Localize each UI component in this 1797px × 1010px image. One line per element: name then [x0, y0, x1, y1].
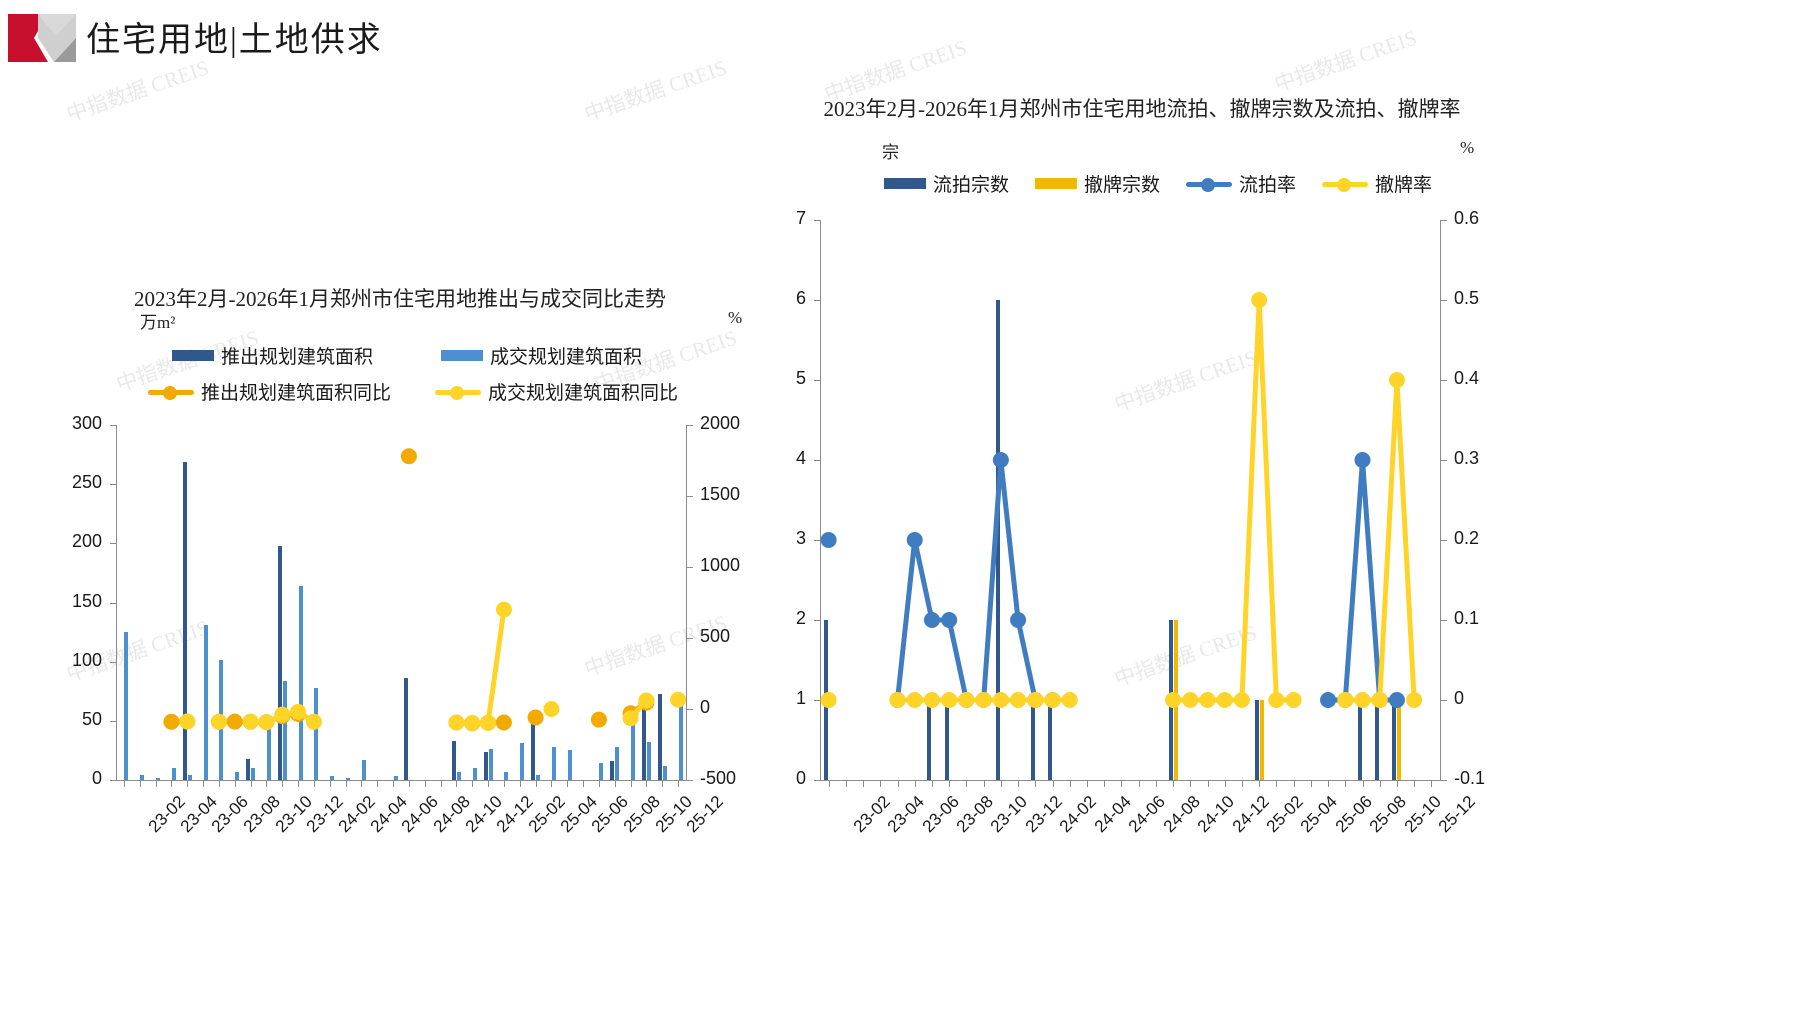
y-tick-label-right: 0.2: [1454, 528, 1479, 549]
marker-撤牌率: [1200, 692, 1216, 708]
x-tick: [898, 781, 899, 787]
marker-撤牌率: [1045, 692, 1061, 708]
legend-item-chengjiao-area[interactable]: 成交规划建筑面积: [441, 342, 642, 369]
marker-撤牌率: [993, 692, 1009, 708]
y-tick-right: [687, 638, 693, 639]
x-tick-label: 24-02: [1056, 792, 1101, 837]
marker-撤牌率: [1062, 692, 1078, 708]
chart-left-ylabel: 万m²: [140, 308, 175, 333]
x-tick: [829, 781, 830, 787]
x-tick: [282, 781, 283, 787]
x-tick: [1363, 781, 1364, 787]
marker-流拍率: [1389, 692, 1405, 708]
marker-成交规划建筑面积同比: [179, 713, 195, 729]
x-tick: [536, 781, 537, 787]
x-tick-label: 24-08: [430, 792, 475, 837]
chart-left-plot-area: 050100150200250300-500050010001500200023…: [116, 425, 686, 780]
marker-撤牌率: [1010, 692, 1026, 708]
y-tick-label-left: 4: [796, 448, 806, 469]
x-tick-label: 23-06: [918, 792, 963, 837]
x-tick: [377, 781, 378, 787]
x-tick: [1328, 781, 1329, 787]
x-tick: [1070, 781, 1071, 787]
legend-label: 流拍宗数: [933, 170, 1009, 197]
x-tick-label: 23-10: [987, 792, 1032, 837]
x-tick-label: 23-12: [1022, 792, 1067, 837]
x-tick: [361, 781, 362, 787]
x-tick: [915, 781, 916, 787]
x-tick: [880, 781, 881, 787]
legend-item-tuichu-area[interactable]: 推出规划建筑面积: [172, 342, 373, 369]
legend-label: 撤牌宗数: [1084, 170, 1160, 197]
x-tick-label: 24-12: [1228, 792, 1273, 837]
chart-left-title: 2023年2月-2026年1月郑州市住宅用地推出与成交同比走势: [80, 286, 720, 312]
y-tick-right: [1441, 460, 1447, 461]
y-tick-right: [687, 709, 693, 710]
x-tick: [1190, 781, 1191, 787]
y-tick-label-left: 3: [796, 528, 806, 549]
y-tick-label-left: 5: [796, 368, 806, 389]
chart-right-legend: 流拍宗数 撤牌宗数 流拍率 撤牌率: [884, 170, 1458, 197]
y-axis-right: [686, 425, 687, 780]
legend-item-liupai-count[interactable]: 流拍宗数: [884, 170, 1009, 197]
line-series-layer: [820, 220, 1440, 780]
marker-撤牌率: [1389, 372, 1405, 388]
y-tick-right: [1441, 700, 1447, 701]
marker-推出规划建筑面积同比: [496, 714, 512, 730]
legend-label: 成交规划建筑面积同比: [488, 378, 678, 405]
marker-撤牌率: [821, 692, 837, 708]
marker-撤牌率: [1372, 692, 1388, 708]
x-tick: [1414, 781, 1415, 787]
y-tick-label-left: 250: [72, 472, 102, 493]
y-tick-label-left: 200: [72, 531, 102, 552]
legend-swatch-bar: [1035, 178, 1077, 189]
x-axis: [116, 780, 687, 781]
marker-成交规划建筑面积同比: [290, 704, 306, 720]
y-tick-right: [687, 780, 693, 781]
x-tick-label: 25-08: [620, 792, 665, 837]
marker-流拍率: [1355, 452, 1371, 468]
y-tick-label-left: 2: [796, 608, 806, 629]
y-tick-label-right: 0: [700, 697, 710, 718]
x-tick-label: 25-02: [525, 792, 570, 837]
legend-item-chepai-rate[interactable]: 撤牌率: [1322, 170, 1432, 197]
x-tick: [235, 781, 236, 787]
x-tick: [472, 781, 473, 787]
x-tick: [425, 781, 426, 787]
marker-撤牌率: [924, 692, 940, 708]
marker-成交规划建筑面积同比: [258, 714, 274, 730]
marker-撤牌率: [976, 692, 992, 708]
y-tick-label-right: 2000: [700, 413, 740, 434]
marker-撤牌率: [1286, 692, 1302, 708]
marker-撤牌率: [1268, 692, 1284, 708]
x-tick: [949, 781, 950, 787]
legend-label: 推出规划建筑面积同比: [201, 378, 391, 405]
line-成交规划建筑面积同比: [456, 610, 504, 723]
x-tick: [1121, 781, 1122, 787]
marker-成交规划建筑面积同比: [211, 714, 227, 730]
x-tick: [1208, 781, 1209, 787]
legend-item-chepai-count[interactable]: 撤牌宗数: [1035, 170, 1160, 197]
marker-成交规划建筑面积同比: [496, 602, 512, 618]
x-tick: [441, 781, 442, 787]
chart-right-ylabel: 宗: [882, 138, 899, 163]
y-tick-label-left: 300: [72, 413, 102, 434]
y-tick-label-right: -0.1: [1454, 768, 1485, 789]
y-tick-right: [1441, 540, 1447, 541]
y-tick-label-right: 0.3: [1454, 448, 1479, 469]
marker-成交规划建筑面积同比: [670, 692, 686, 708]
chart-right-y2label: %: [1460, 138, 1474, 158]
x-tick: [678, 781, 679, 787]
y-tick-label-left: 7: [796, 208, 806, 229]
x-tick-label: 25-04: [1297, 792, 1342, 837]
chart-left-land-supply-transaction: 2023年2月-2026年1月郑州市住宅用地推出与成交同比走势 万m² % 推出…: [0, 0, 800, 1010]
x-tick: [646, 781, 647, 787]
marker-成交规划建筑面积同比: [623, 710, 639, 726]
y-tick-label-left: 0: [92, 768, 102, 789]
marker-流拍率: [941, 612, 957, 628]
x-tick: [140, 781, 141, 787]
x-tick: [1225, 781, 1226, 787]
x-tick: [1431, 781, 1432, 787]
legend-label: 推出规划建筑面积: [221, 342, 373, 369]
marker-推出规划建筑面积同比: [591, 712, 607, 728]
x-tick: [171, 781, 172, 787]
x-tick-label: 25-10: [1400, 792, 1445, 837]
marker-流拍率: [821, 532, 837, 548]
x-tick: [966, 781, 967, 787]
marker-成交规划建筑面积同比: [464, 715, 480, 731]
marker-流拍率: [907, 532, 923, 548]
x-tick-label: 24-04: [1090, 792, 1135, 837]
marker-撤牌率: [1165, 692, 1181, 708]
y-tick-label-right: 0.4: [1454, 368, 1479, 389]
x-tick-label: 23-08: [953, 792, 998, 837]
x-tick: [1242, 781, 1243, 787]
chart-left-legend-row1: 推出规划建筑面积 成交规划建筑面积: [172, 342, 668, 369]
chart-left-y2label: %: [728, 308, 742, 328]
x-tick: [520, 781, 521, 787]
x-tick: [1345, 781, 1346, 787]
x-tick: [409, 781, 410, 787]
line-撤牌率: [1173, 300, 1294, 700]
x-tick: [1001, 781, 1002, 787]
legend-item-tuichu-yoy[interactable]: 推出规划建筑面积同比: [148, 378, 391, 405]
marker-成交规划建筑面积同比: [480, 715, 496, 731]
x-tick: [583, 781, 584, 787]
y-tick-label-right: 0: [1454, 688, 1464, 709]
x-tick: [1087, 781, 1088, 787]
x-tick: [1311, 781, 1312, 787]
marker-撤牌率: [958, 692, 974, 708]
legend-swatch-bar: [172, 350, 214, 361]
x-tick-label: 25-08: [1366, 792, 1411, 837]
marker-撤牌率: [1217, 692, 1233, 708]
x-tick: [251, 781, 252, 787]
marker-流拍率: [924, 612, 940, 628]
y-tick-label-right: 1500: [700, 484, 740, 505]
legend-item-liupai-rate[interactable]: 流拍率: [1186, 170, 1296, 197]
y-tick-right: [1441, 620, 1447, 621]
y-axis-right: [1440, 220, 1441, 780]
x-tick: [631, 781, 632, 787]
y-tick-right: [1441, 780, 1447, 781]
y-tick-label-right: 0.1: [1454, 608, 1479, 629]
x-tick-label: 25-06: [1332, 792, 1377, 837]
y-tick-label-left: 1: [796, 688, 806, 709]
x-tick: [456, 781, 457, 787]
legend-label: 成交规划建筑面积: [490, 342, 642, 369]
x-tick: [1104, 781, 1105, 787]
marker-撤牌率: [1182, 692, 1198, 708]
marker-撤牌率: [1234, 692, 1250, 708]
x-tick: [984, 781, 985, 787]
x-tick: [219, 781, 220, 787]
marker-撤牌率: [1251, 292, 1267, 308]
legend-swatch-line: [1322, 177, 1368, 191]
x-tick-label: 25-12: [1435, 792, 1480, 837]
legend-swatch-bar: [884, 178, 926, 189]
y-tick-left: [814, 780, 820, 781]
x-tick: [266, 781, 267, 787]
y-tick-label-left: 0: [796, 768, 806, 789]
marker-成交规划建筑面积同比: [543, 701, 559, 717]
marker-成交规划建筑面积同比: [274, 707, 290, 723]
marker-流拍率: [1320, 692, 1336, 708]
x-tick: [314, 781, 315, 787]
x-tick-label: 23-08: [240, 792, 285, 837]
marker-推出规划建筑面积同比: [401, 448, 417, 464]
chart-right-title: 2023年2月-2026年1月郑州市住宅用地流拍、撤牌宗数及流拍、撤牌率: [812, 96, 1472, 122]
legend-item-chengjiao-yoy[interactable]: 成交规划建筑面积同比: [435, 378, 678, 405]
x-tick-label: 23-02: [145, 792, 190, 837]
x-tick: [599, 781, 600, 787]
y-tick-label-right: 500: [700, 626, 730, 647]
y-tick-right: [687, 496, 693, 497]
marker-推出规划建筑面积同比: [528, 710, 544, 726]
y-tick-right: [1441, 220, 1447, 221]
x-tick: [393, 781, 394, 787]
y-tick-label-left: 6: [796, 288, 806, 309]
x-tick: [1294, 781, 1295, 787]
x-tick: [488, 781, 489, 787]
x-tick: [1173, 781, 1174, 787]
x-tick-label: 24-06: [1125, 792, 1170, 837]
chart-right-failed-withdrawn: 2023年2月-2026年1月郑州市住宅用地流拍、撤牌宗数及流拍、撤牌率 宗 %…: [800, 0, 1797, 1010]
x-tick: [330, 781, 331, 787]
x-tick: [567, 781, 568, 787]
legend-swatch-bar: [441, 350, 483, 361]
marker-撤牌率: [1406, 692, 1422, 708]
x-axis: [820, 780, 1441, 781]
x-tick: [863, 781, 864, 787]
x-tick: [1276, 781, 1277, 787]
marker-推出规划建筑面积同比: [163, 714, 179, 730]
x-tick-label: 24-08: [1159, 792, 1204, 837]
marker-撤牌率: [1355, 692, 1371, 708]
marker-流拍率: [993, 452, 1009, 468]
marker-撤牌率: [1027, 692, 1043, 708]
x-tick: [1397, 781, 1398, 787]
marker-撤牌率: [907, 692, 923, 708]
y-tick-right: [687, 567, 693, 568]
x-tick: [1053, 781, 1054, 787]
y-tick-label-left: 50: [82, 709, 102, 730]
marker-成交规划建筑面积同比: [448, 714, 464, 730]
x-tick: [1380, 781, 1381, 787]
legend-label: 撤牌率: [1375, 170, 1432, 197]
chart-left-legend-row2: 推出规划建筑面积同比 成交规划建筑面积同比: [148, 378, 704, 405]
y-tick-label-right: 0.5: [1454, 288, 1479, 309]
x-tick-label: 23-02: [849, 792, 894, 837]
line-流拍率: [898, 460, 1053, 700]
y-tick-left: [110, 780, 116, 781]
marker-流拍率: [1010, 612, 1026, 628]
marker-撤牌率: [890, 692, 906, 708]
x-tick-label: 25-02: [1263, 792, 1308, 837]
y-tick-right: [687, 425, 693, 426]
marker-撤牌率: [1337, 692, 1353, 708]
legend-swatch-line: [1186, 177, 1232, 191]
x-tick: [124, 781, 125, 787]
x-tick: [932, 781, 933, 787]
legend-label: 流拍率: [1239, 170, 1296, 197]
x-tick: [551, 781, 552, 787]
y-tick-right: [1441, 380, 1447, 381]
legend-swatch-line: [148, 385, 194, 399]
x-tick: [156, 781, 157, 787]
x-tick: [346, 781, 347, 787]
y-tick-label-right: 0.6: [1454, 208, 1479, 229]
line-series-layer: [116, 425, 686, 780]
marker-推出规划建筑面积同比: [227, 714, 243, 730]
x-tick-label: 23-04: [884, 792, 929, 837]
x-tick: [1259, 781, 1260, 787]
x-tick: [504, 781, 505, 787]
x-tick: [662, 781, 663, 787]
x-tick: [1139, 781, 1140, 787]
y-tick-label-right: -500: [700, 768, 736, 789]
marker-成交规划建筑面积同比: [306, 714, 322, 730]
x-tick-label: 24-02: [335, 792, 380, 837]
marker-成交规划建筑面积同比: [638, 692, 654, 708]
y-tick-label-left: 100: [72, 650, 102, 671]
x-tick: [187, 781, 188, 787]
x-tick: [846, 781, 847, 787]
x-tick: [1156, 781, 1157, 787]
legend-swatch-line: [435, 385, 481, 399]
x-tick: [615, 781, 616, 787]
y-tick-label-right: 1000: [700, 555, 740, 576]
x-tick: [1018, 781, 1019, 787]
y-tick-label-left: 150: [72, 591, 102, 612]
x-tick: [203, 781, 204, 787]
chart-right-plot-area: 01234567-0.100.10.20.30.40.50.623-0223-0…: [820, 220, 1440, 780]
x-tick: [298, 781, 299, 787]
marker-撤牌率: [941, 692, 957, 708]
x-tick: [1035, 781, 1036, 787]
marker-成交规划建筑面积同比: [243, 713, 259, 729]
y-tick-right: [1441, 300, 1447, 301]
x-tick-label: 24-10: [1194, 792, 1239, 837]
